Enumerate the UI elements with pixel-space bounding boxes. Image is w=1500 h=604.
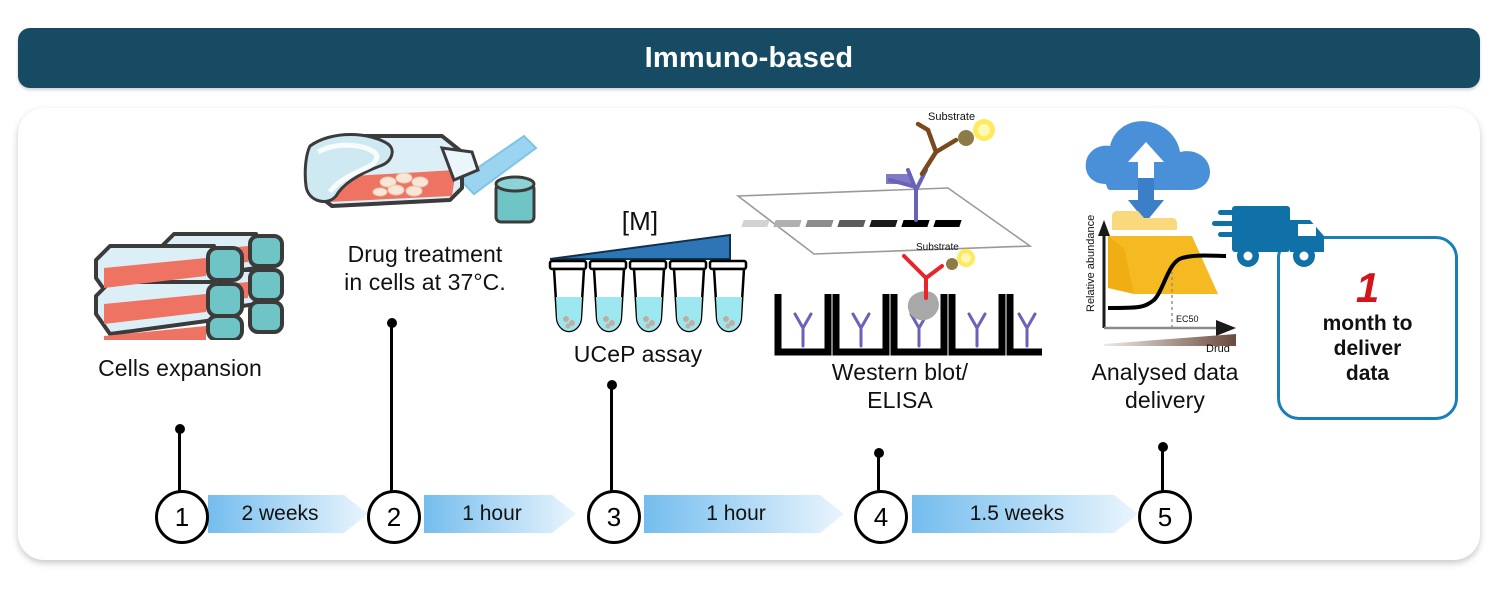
step-3-caption: UCeP assay [538, 340, 738, 368]
duration-arrow-3: 1 hour [644, 495, 844, 533]
duration-label-1: 2 weeks [241, 502, 318, 526]
cell-culture-flasks-icon [78, 150, 298, 340]
duration-label-4: 1.5 weeks [970, 502, 1065, 526]
connector-step-4 [877, 456, 880, 494]
substrate-label-bottom: Substrate [916, 242, 959, 253]
duration-arrow-2: 1 hour [424, 495, 576, 533]
step-5-caption: Analysed data delivery [1060, 358, 1270, 414]
step-2-caption-line2: in cells at 37°C. [290, 268, 560, 296]
timeline-step-1[interactable]: 1 [155, 490, 209, 544]
step-1-caption: Cells expansion [60, 354, 300, 382]
step-5-caption-line2: delivery [1060, 386, 1270, 414]
step-2-caption: Drug treatment in cells at 37°C. [290, 240, 560, 296]
step-5-caption-line1: Analysed data [1060, 358, 1270, 386]
timeline-step-4-number: 4 [874, 502, 888, 533]
connector-step-2 [390, 326, 393, 494]
duration-label-2: 1 hour [462, 502, 522, 526]
timeline-step-3-number: 3 [607, 502, 621, 533]
header-banner: Immuno-based [18, 28, 1480, 88]
step-4-caption-line2: ELISA [790, 386, 1010, 414]
connector-step-3 [610, 388, 613, 494]
promise-line1: month to [1323, 311, 1413, 336]
step-4-caption: Western blot/ ELISA [790, 358, 1010, 414]
promise-number: 1 [1356, 269, 1379, 307]
cloud-upload-icon [1086, 121, 1210, 222]
chart-y-axis-label: Relative abundance [1085, 215, 1097, 312]
substrate-label-top: Substrate [928, 111, 975, 123]
timeline-step-3[interactable]: 3 [587, 490, 641, 544]
timeline-step-1-number: 1 [175, 502, 189, 533]
infographic-root: Immuno-based [0, 0, 1500, 604]
promise-line3: data [1323, 361, 1413, 386]
duration-label-3: 1 hour [706, 502, 766, 526]
delivery-truck-icon [1212, 192, 1332, 282]
timeline-step-5[interactable]: 5 [1138, 490, 1192, 544]
chart-x-axis-label: Drug [1206, 343, 1230, 352]
duration-arrow-1: 2 weeks [208, 495, 368, 533]
duration-arrow-4: 1.5 weeks [912, 495, 1138, 533]
flask-pipette-icon [292, 122, 552, 242]
step-4-caption-line1: Western blot/ [790, 358, 1010, 386]
timeline-step-4[interactable]: 4 [854, 490, 908, 544]
page-title: Immuno-based [645, 42, 854, 75]
connector-step-1 [178, 432, 181, 494]
step-2-caption-line1: Drug treatment [290, 240, 560, 268]
promise-line2: deliver [1323, 336, 1413, 361]
timeline-step-5-number: 5 [1158, 502, 1172, 533]
western-blot-elisa-icon: Substrate [722, 108, 1042, 358]
step-3-gradient-label: [M] [600, 206, 680, 238]
timeline-step-2[interactable]: 2 [367, 490, 421, 544]
connector-step-5 [1161, 450, 1164, 494]
timeline-step-2-number: 2 [387, 502, 401, 533]
ec50-annotation: EC50 [1176, 314, 1199, 324]
